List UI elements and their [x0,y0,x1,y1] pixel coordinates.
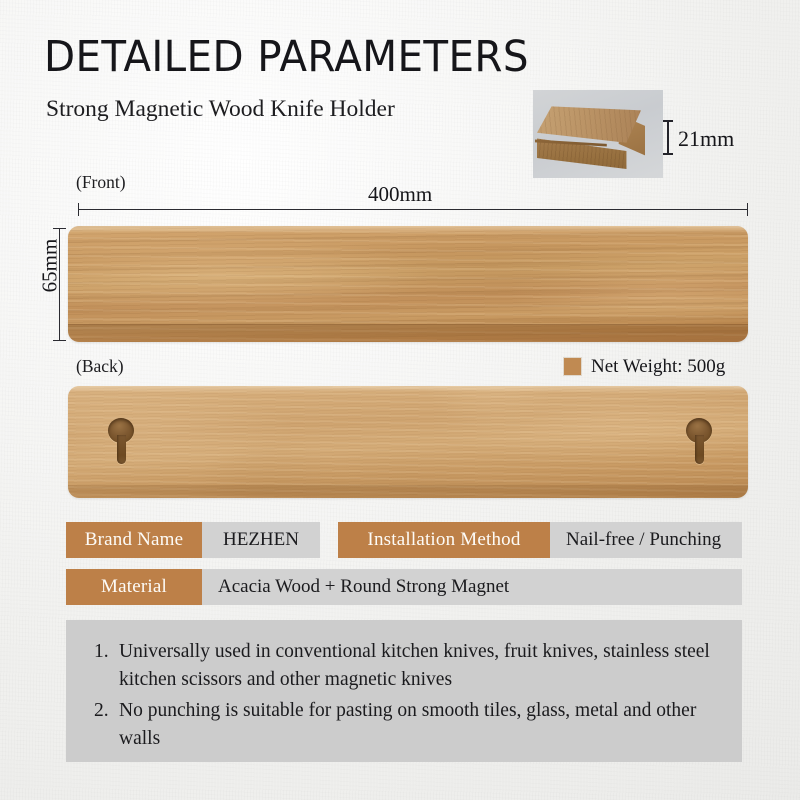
back-bottom-bevel [68,485,748,498]
note-number: 1. [94,638,119,693]
wood-block-thumbnail [533,90,663,178]
color-swatch-icon [563,357,582,376]
note-text: Universally used in conventional kitchen… [119,638,716,693]
usage-notes-panel: 1. Universally used in conventional kitc… [66,620,742,762]
back-wood-grain [68,386,748,498]
front-top-highlight [68,226,748,233]
spec-key-brand-name: Brand Name [66,522,202,558]
specification-table: Brand Name HEZHEN Installation Method Na… [66,522,742,616]
block-top-face [537,104,641,144]
keyhole-slot-left [117,435,126,464]
back-top-highlight [68,386,748,392]
spec-key-material: Material [66,569,202,605]
keyhole-slot-right-icon [686,418,712,464]
knife-holder-back-view [68,386,748,498]
table-row: Brand Name HEZHEN Installation Method Na… [66,522,742,558]
spec-value-installation-method: Nail-free / Punching [550,522,742,558]
note-number: 2. [94,697,119,752]
knife-holder-front-view [68,226,748,342]
net-weight-label: Net Weight: 500g [591,357,725,376]
spec-value-brand-name: HEZHEN [202,522,320,558]
spec-value-material: Acacia Wood + Round Strong Magnet [202,569,742,605]
width-dimension-line [78,209,748,210]
net-weight-callout: Net Weight: 500g [563,357,725,376]
keyhole-slot-left-icon [108,418,134,464]
table-row: Material Acacia Wood + Round Strong Magn… [66,569,742,605]
height-dimension-label: 65mm [38,211,63,321]
width-dimension-label: 400mm [368,182,432,207]
list-item: 1. Universally used in conventional kitc… [94,638,716,693]
spec-key-installation-method: Installation Method [338,522,550,558]
list-item: 2. No punching is suitable for pasting o… [94,697,716,752]
front-bottom-bevel [68,324,748,342]
page-subtitle: Strong Magnetic Wood Knife Holder [46,98,395,122]
keyhole-slot-right [695,435,704,464]
back-view-label: (Back) [76,356,124,377]
thickness-dimension-label: 21mm [678,126,734,152]
page-title: DETAILED PARAMETERS [44,36,529,79]
front-view-label: (Front) [76,172,126,193]
product-spec-page: DETAILED PARAMETERS Strong Magnetic Wood… [0,0,800,800]
thickness-dimension-line [667,120,669,155]
note-text: No punching is suitable for pasting on s… [119,697,716,752]
